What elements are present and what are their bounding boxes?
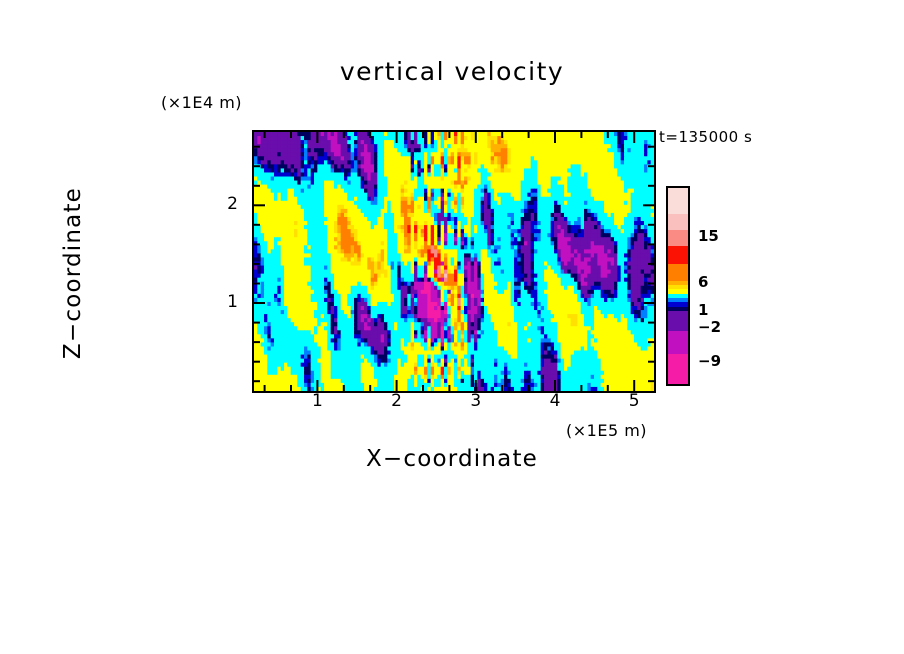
colorbar-tick-label: −9: [698, 352, 721, 370]
colorbar-band: [668, 307, 688, 311]
x-tick-label: 1: [292, 391, 342, 411]
colorbar-tick-label: 1: [698, 301, 708, 319]
colorbar-swatches: [666, 186, 690, 386]
colorbar-band: [668, 230, 688, 246]
colorbar-band: [668, 331, 688, 354]
contour-plot: [252, 130, 656, 393]
colorbar-band: [668, 302, 688, 307]
time-annotation: t=135000 s: [659, 128, 752, 146]
colorbar-band: [668, 294, 688, 298]
y-units-label: (×1E4 m): [161, 93, 242, 112]
colorbar-band: [668, 285, 688, 289]
contour-field: [254, 132, 655, 392]
x-tick-label: 4: [530, 391, 580, 411]
y-axis-title: Z−coordinate: [60, 153, 86, 393]
colorbar: 1561−2−9: [666, 186, 690, 390]
y-tick-label: 2: [204, 194, 238, 214]
x-tick-label: 3: [451, 391, 501, 411]
y-tick-label: 1: [204, 292, 238, 312]
colorbar-band: [668, 354, 688, 386]
colorbar-band: [668, 264, 688, 281]
page-title: vertical velocity: [0, 57, 904, 86]
colorbar-tick-label: −2: [698, 318, 721, 336]
x-tick-label: 2: [372, 391, 422, 411]
colorbar-tick-label: 15: [698, 227, 719, 245]
x-tick-label: 5: [609, 391, 659, 411]
colorbar-tick-label: 6: [698, 273, 708, 291]
colorbar-band: [668, 289, 688, 294]
colorbar-band: [668, 186, 688, 214]
colorbar-tick-labels: 1561−2−9: [692, 186, 762, 386]
colorbar-band: [668, 298, 688, 302]
colorbar-band: [668, 214, 688, 230]
colorbar-band: [668, 246, 688, 264]
colorbar-band: [668, 281, 688, 285]
x-units-label: (×1E5 m): [566, 421, 647, 440]
x-axis-title: X−coordinate: [0, 446, 904, 472]
colorbar-band: [668, 311, 688, 331]
